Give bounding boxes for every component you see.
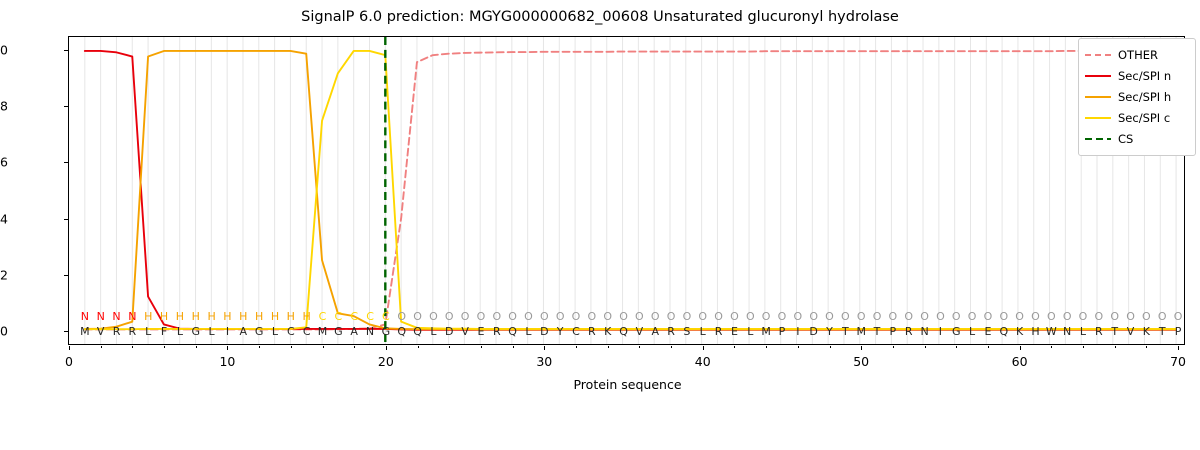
x-tick-minor-mark <box>164 346 165 348</box>
legend-swatch-other-dashed-line <box>1085 49 1111 61</box>
x-tick-mark <box>227 346 228 350</box>
x-tick-minor-mark <box>1083 346 1084 348</box>
x-tick-label: 30 <box>514 354 574 369</box>
legend-swatch-sec-spi-n-line <box>1085 70 1111 82</box>
chart-title: SignalP 6.0 prediction: MGYG000000682_00… <box>0 9 1200 25</box>
x-tick-minor-mark <box>830 346 831 348</box>
x-tick-mark <box>544 346 545 350</box>
legend-swatch-sec-spi-h-line <box>1085 91 1111 103</box>
x-tick-minor-mark <box>798 346 799 348</box>
x-tick-minor-mark <box>291 346 292 348</box>
legend-item-sec-spi-h[interactable]: Sec/SPI h <box>1085 86 1189 107</box>
y-tick-label: 0.4 <box>0 211 8 226</box>
x-tick-mark <box>386 346 387 350</box>
x-tick-minor-mark <box>1051 346 1052 348</box>
x-axis-label: Protein sequence <box>69 377 1186 392</box>
x-tick-label: 70 <box>1148 354 1200 369</box>
x-tick-label: 40 <box>673 354 733 369</box>
legend-swatch-cs-dashed-line <box>1085 133 1111 145</box>
x-tick-minor-mark <box>576 346 577 348</box>
x-tick-minor-mark <box>671 346 672 348</box>
x-tick-minor-mark <box>639 346 640 348</box>
x-tick-mark <box>703 346 704 350</box>
x-tick-minor-mark <box>481 346 482 348</box>
x-tick-minor-mark <box>608 346 609 348</box>
legend-item-cs[interactable]: CS <box>1085 128 1189 149</box>
legend-item-other[interactable]: OTHER <box>1085 44 1189 65</box>
x-tick-mark <box>861 346 862 350</box>
x-tick-minor-mark <box>418 346 419 348</box>
x-tick-label: 60 <box>990 354 1050 369</box>
legend-item-sec-spi-c[interactable]: Sec/SPI c <box>1085 107 1189 128</box>
y-tick-label: 0.0 <box>0 323 8 338</box>
x-tick-minor-mark <box>354 346 355 348</box>
plot-clip: NMNVNRNRHLHFHLHGHLHIHAHGHLHCHCCMCGCACNCG… <box>69 37 1184 344</box>
signalp-prediction-figure: SignalP 6.0 prediction: MGYG000000682_00… <box>0 0 1200 450</box>
x-tick-mark <box>69 346 70 350</box>
x-tick-label: 20 <box>356 354 416 369</box>
chart-legend[interactable]: OTHER Sec/SPI n Sec/SPI h Sec/SPI c CS <box>1078 38 1196 156</box>
legend-label-cs: CS <box>1118 132 1133 146</box>
x-tick-minor-mark <box>925 346 926 348</box>
x-tick-label: 50 <box>831 354 891 369</box>
y-tick-label: 0.6 <box>0 155 8 170</box>
x-tick-minor-mark <box>101 346 102 348</box>
legend-label-sec-spi-c: Sec/SPI c <box>1118 111 1170 125</box>
legend-label-sec-spi-h: Sec/SPI h <box>1118 90 1171 104</box>
x-tick-minor-mark <box>988 346 989 348</box>
data-curves <box>69 37 1184 344</box>
x-tick-minor-mark <box>1115 346 1116 348</box>
legend-swatch-sec-spi-c-line <box>1085 112 1111 124</box>
y-tick-label: 0.2 <box>0 267 8 282</box>
x-tick-minor-mark <box>734 346 735 348</box>
x-tick-label: 10 <box>197 354 257 369</box>
x-tick-minor-mark <box>323 346 324 348</box>
legend-label-other: OTHER <box>1118 48 1158 62</box>
x-tick-minor-mark <box>893 346 894 348</box>
x-tick-minor-mark <box>132 346 133 348</box>
legend-item-sec-spi-n[interactable]: Sec/SPI n <box>1085 65 1189 86</box>
x-tick-minor-mark <box>766 346 767 348</box>
y-tick-label: 0.8 <box>0 99 8 114</box>
legend-label-sec-spi-n: Sec/SPI n <box>1118 69 1171 83</box>
plot-area: NMNVNRNRHLHFHLHGHLHIHAHGHLHCHCCMCGCACNCG… <box>68 36 1185 345</box>
x-tick-minor-mark <box>196 346 197 348</box>
region-annotation-o: O <box>1163 310 1184 323</box>
x-tick-minor-mark <box>956 346 957 348</box>
x-tick-minor-mark <box>513 346 514 348</box>
y-tick-label: 1.0 <box>0 43 8 58</box>
x-tick-minor-mark <box>1146 346 1147 348</box>
sequence-residue: P <box>1163 325 1184 338</box>
x-tick-mark <box>1178 346 1179 350</box>
x-tick-minor-mark <box>259 346 260 348</box>
x-tick-minor-mark <box>449 346 450 348</box>
x-tick-mark <box>1020 346 1021 350</box>
x-tick-label: 0 <box>39 354 99 369</box>
